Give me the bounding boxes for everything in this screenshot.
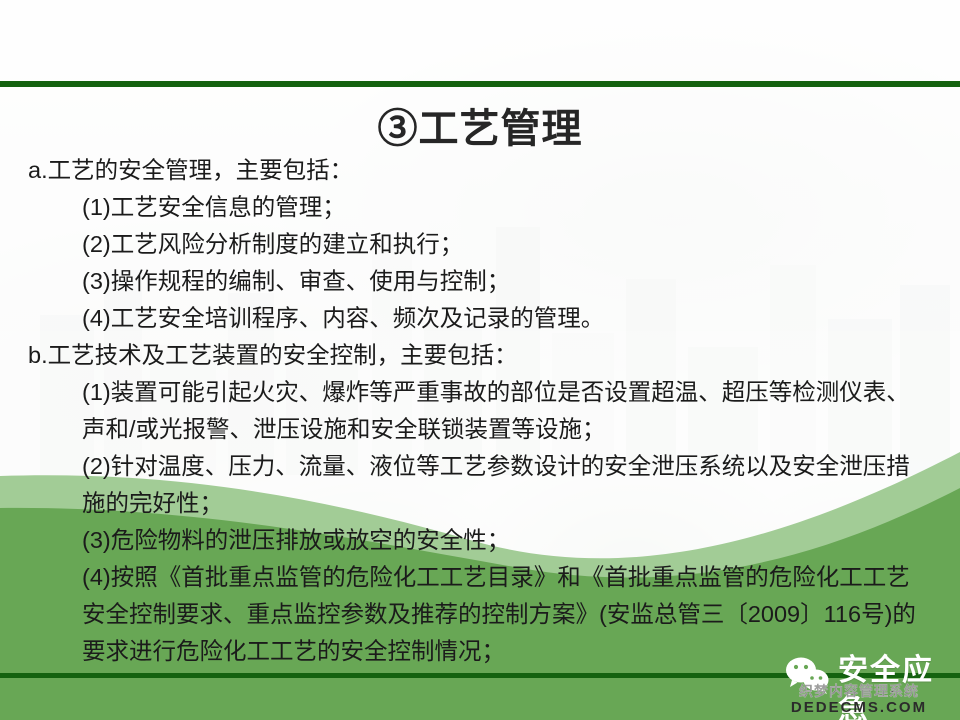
body-line: (2)针对温度、压力、流量、液位等工艺参数设计的安全泄压系统以及安全泄压措 — [28, 448, 940, 485]
body-line: a.工艺的安全管理，主要包括： — [28, 152, 940, 189]
body-line: (1)工艺安全信息的管理； — [28, 189, 940, 226]
body-line: 声和/或光报警、泄压设施和安全联锁装置等设施； — [28, 411, 940, 448]
brand-name: 安全应急 — [838, 651, 960, 720]
slide-canvas: ③工艺管理 a.工艺的安全管理，主要包括： (1)工艺安全信息的管理； (2)工… — [0, 0, 960, 720]
body-line: (3)操作规程的编制、审查、使用与控制； — [28, 263, 940, 300]
body-line: (3)危险物料的泄压排放或放空的安全性； — [28, 522, 940, 559]
body-line: (4)按照《首批重点监管的危险化工工艺目录》和《首批重点监管的危险化工工艺 — [28, 559, 940, 596]
brand-lockup: 安全应急 — [784, 651, 960, 701]
body-line: 施的完好性； — [28, 485, 940, 522]
body-line: b.工艺技术及工艺装置的安全控制，主要包括： — [28, 337, 940, 374]
page-title: ③工艺管理 — [0, 96, 960, 154]
body-line: (4)工艺安全培训程序、内容、频次及记录的管理。 — [28, 300, 940, 337]
body-line: 安全控制要求、重点监控参数及推荐的控制方案》(安监总管三〔2009〕116号)的 — [28, 596, 940, 633]
body-line: (2)工艺风险分析制度的建立和执行； — [28, 226, 940, 263]
wechat-icon — [784, 655, 832, 695]
body-line: (1)装置可能引起火灾、爆炸等严重事故的部位是否设置超温、超压等检测仪表、 — [28, 374, 940, 411]
top-accent-rule — [0, 81, 960, 87]
slide-body: a.工艺的安全管理，主要包括： (1)工艺安全信息的管理； (2)工艺风险分析制… — [28, 152, 940, 670]
